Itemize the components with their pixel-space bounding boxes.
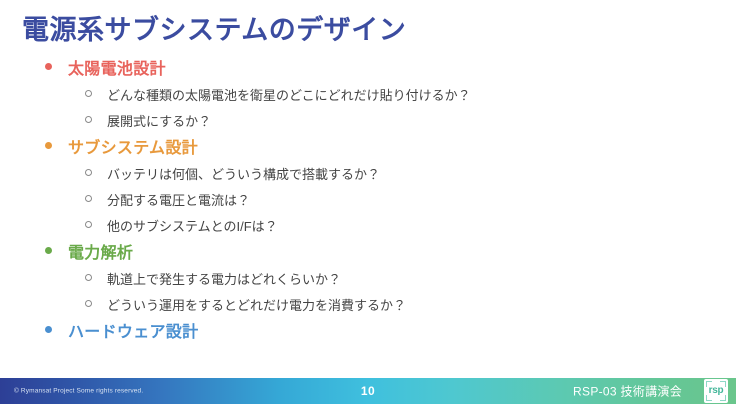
bullet-ring-icon xyxy=(85,90,92,97)
section-heading-label: ハードウェア設計 xyxy=(68,325,198,341)
bullet-ring-icon xyxy=(85,169,92,176)
rsp-logo-inner: rsp xyxy=(706,381,726,401)
bullet-dot-icon xyxy=(45,142,52,149)
slide-footer: © Rymansat Project Some rights reserved.… xyxy=(0,378,736,404)
bullet-ring-icon xyxy=(85,116,92,123)
section-heading-row: 太陽電池設計 xyxy=(0,62,736,89)
sub-bullet-row: 他のサブシステムとのI/Fは？ xyxy=(0,220,736,246)
bullet-dot-icon xyxy=(45,326,52,333)
bullet-ring-icon xyxy=(85,300,92,307)
sub-bullet-label: どういう運用をするとどれだけ電力を消費するか？ xyxy=(107,299,406,312)
sub-bullet-label: 軌道上で発生する電力はどれくらいか？ xyxy=(107,273,341,286)
bullet-dot-icon xyxy=(45,63,52,70)
sub-bullet-label: 他のサブシステムとのI/Fは？ xyxy=(107,220,278,233)
rsp-logo-icon: rsp xyxy=(704,379,728,403)
sub-bullet-row: バッテリは何個、どういう構成で搭載するか？ xyxy=(0,168,736,194)
slide-body: 太陽電池設計どんな種類の太陽電池を衛星のどこにどれだけ貼り付けるか？展開式にする… xyxy=(0,62,736,352)
logo-corner-bottom-right-icon xyxy=(720,395,726,401)
slide-canvas: 電源系サブシステムのデザイン 太陽電池設計どんな種類の太陽電池を衛星のどこにどれ… xyxy=(0,0,736,404)
sub-bullet-label: 分配する電圧と電流は？ xyxy=(107,194,250,207)
sub-bullet-row: 軌道上で発生する電力はどれくらいか？ xyxy=(0,273,736,299)
sub-bullet-row: 分配する電圧と電流は？ xyxy=(0,194,736,220)
bullet-dot-icon xyxy=(45,247,52,254)
bullet-section: 電力解析軌道上で発生する電力はどれくらいか？どういう運用をするとどれだけ電力を消… xyxy=(0,246,736,325)
section-heading-label: 電力解析 xyxy=(68,246,133,262)
section-heading-row: サブシステム設計 xyxy=(0,141,736,168)
bullet-ring-icon xyxy=(85,221,92,228)
bullet-ring-icon xyxy=(85,274,92,281)
bullet-section: ハードウェア設計 xyxy=(0,325,736,352)
section-heading-label: 太陽電池設計 xyxy=(68,62,166,78)
sub-bullet-label: バッテリは何個、どういう構成で搭載するか？ xyxy=(107,168,380,181)
page-title: 電源系サブシステムのデザイン xyxy=(22,14,406,46)
bullet-ring-icon xyxy=(85,195,92,202)
sub-bullet-label: どんな種類の太陽電池を衛星のどこにどれだけ貼り付けるか？ xyxy=(107,89,471,102)
logo-corner-top-right-icon xyxy=(720,381,726,387)
bullet-section: サブシステム設計バッテリは何個、どういう構成で搭載するか？分配する電圧と電流は？… xyxy=(0,141,736,246)
section-heading-label: サブシステム設計 xyxy=(68,141,198,157)
sub-bullet-row: 展開式にするか？ xyxy=(0,115,736,141)
section-heading-row: 電力解析 xyxy=(0,246,736,273)
bullet-section: 太陽電池設計どんな種類の太陽電池を衛星のどこにどれだけ貼り付けるか？展開式にする… xyxy=(0,62,736,141)
sub-bullet-label: 展開式にするか？ xyxy=(107,115,211,128)
sub-bullet-row: どういう運用をするとどれだけ電力を消費するか？ xyxy=(0,299,736,325)
logo-corner-bottom-left-icon xyxy=(706,395,712,401)
footer-event-title: RSP-03 技術講演会 xyxy=(573,383,682,400)
section-heading-row: ハードウェア設計 xyxy=(0,325,736,352)
logo-corner-top-left-icon xyxy=(706,381,712,387)
sub-bullet-row: どんな種類の太陽電池を衛星のどこにどれだけ貼り付けるか？ xyxy=(0,89,736,115)
